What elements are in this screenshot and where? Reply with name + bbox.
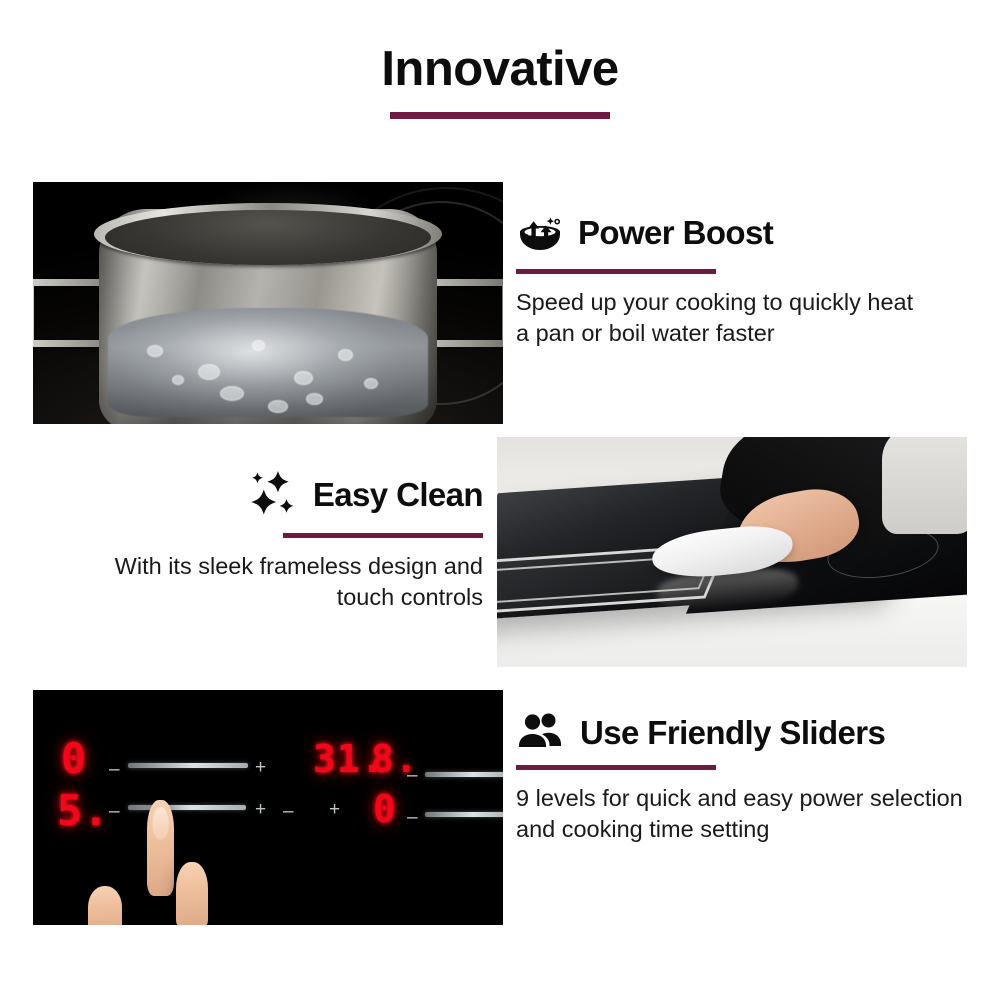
power-boost-body: Speed up your cooking to quickly heat a … — [516, 287, 916, 350]
easy-clean-heading-line: Easy Clean — [110, 468, 483, 520]
sliders-text-block: Use Friendly Sliders 9 levels for quick … — [516, 712, 968, 846]
people-icon — [516, 712, 566, 752]
touch-slider-panel-photo: 0 5. – + – + 31. 8. 0 – + – – — [33, 690, 503, 925]
pointing-finger — [147, 800, 174, 896]
fingernail — [152, 807, 169, 840]
bubble — [147, 345, 163, 357]
slider-left-bottom[interactable] — [128, 805, 246, 810]
bubble — [198, 364, 220, 380]
bubble — [306, 393, 323, 405]
page-title: Innovative — [0, 0, 1000, 95]
plus-left-bottom[interactable]: + — [255, 800, 266, 819]
page-header: Innovative — [0, 0, 1000, 160]
sparkles-icon — [245, 468, 299, 520]
slider-right-bottom[interactable] — [425, 812, 503, 817]
pot-scene-background — [33, 182, 503, 424]
clean-scene-background — [497, 437, 967, 667]
power-boost-text-block: Power Boost Speed up your cooking to qui… — [516, 208, 916, 350]
slider-right-top[interactable] — [425, 772, 503, 777]
bubble — [172, 375, 184, 385]
led-left-top-value: 0 — [61, 738, 87, 780]
sliders-title: Use Friendly Sliders — [580, 716, 885, 749]
pot-interior — [105, 210, 430, 266]
minus-right-top[interactable]: – — [407, 766, 418, 785]
bubble — [252, 340, 265, 351]
title-underline — [390, 112, 610, 119]
led-right-bottom-value: 0 — [373, 790, 397, 828]
bubble — [268, 400, 288, 413]
second-finger — [176, 862, 208, 925]
boiling-water — [108, 308, 428, 417]
apron — [882, 437, 967, 534]
sliders-underline — [516, 765, 716, 770]
thumb — [88, 886, 122, 925]
boiling-pot-photo — [33, 182, 503, 424]
minus-left-top[interactable]: – — [109, 760, 120, 779]
power-boost-underline — [516, 269, 716, 274]
power-boost-title: Power Boost — [578, 216, 773, 249]
minus-left-bottom[interactable]: – — [109, 802, 120, 821]
bubble — [338, 349, 353, 361]
bubble — [364, 378, 378, 389]
wiping-cooktop-photo — [497, 437, 967, 667]
plus-timer[interactable]: + — [329, 800, 340, 819]
led-left-bottom-value: 5. — [57, 790, 110, 832]
plus-left-top[interactable]: + — [255, 758, 266, 777]
minus-right-bottom[interactable]: – — [407, 808, 418, 827]
easy-clean-underline — [283, 533, 483, 538]
power-boost-heading-line: Power Boost — [516, 208, 916, 256]
easy-clean-title: Easy Clean — [313, 478, 483, 511]
sliders-body: 9 levels for quick and easy power select… — [516, 783, 968, 846]
bubble — [294, 371, 313, 385]
slider-left-top[interactable] — [128, 763, 248, 768]
easy-clean-text-block: Easy Clean With its sleek frameless desi… — [110, 468, 483, 614]
sliders-heading-line: Use Friendly Sliders — [516, 712, 968, 752]
bubble — [220, 386, 244, 401]
pot-boost-icon — [516, 208, 564, 256]
minus-timer[interactable]: – — [283, 802, 294, 821]
control-panel-background: 0 5. – + – + 31. 8. 0 – + – – — [33, 690, 503, 925]
easy-clean-body: With its sleek frameless design and touc… — [110, 551, 483, 614]
